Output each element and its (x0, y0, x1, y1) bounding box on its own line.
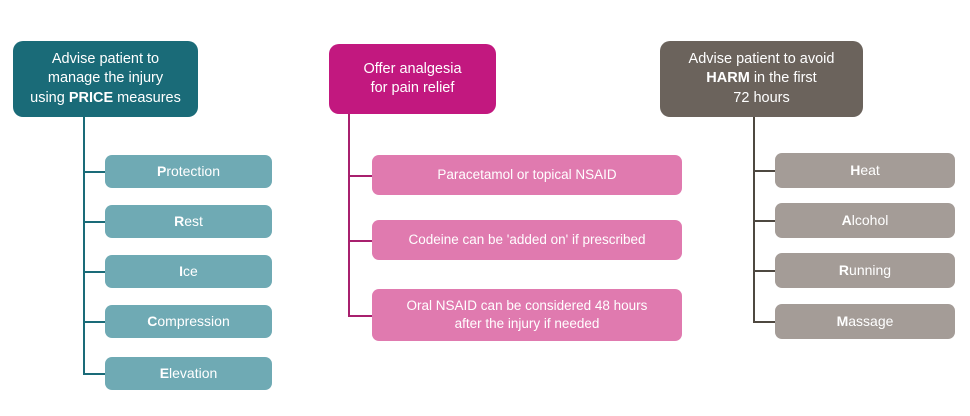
acronym-rest-r: est (184, 213, 203, 229)
child-box-protection[interactable]: Protection (105, 155, 272, 188)
acronym-rest-c: ompression (157, 313, 229, 329)
child-box-elevation-label: Elevation (113, 364, 264, 382)
child-box-elevation[interactable]: Elevation (105, 357, 272, 390)
root-price-line1: Advise patient to (52, 51, 159, 67)
root-box-analgesia-label: Offer analgesia for pain relief (339, 60, 486, 98)
child-box-compression[interactable]: Compression (105, 305, 272, 338)
connector-stub-price-3 (83, 271, 107, 273)
connector-stub-harm-3 (753, 270, 777, 272)
root-analgesia-line2: for pain relief (371, 80, 455, 96)
child-box-compression-label: Compression (113, 312, 264, 330)
root-box-analgesia[interactable]: Offer analgesia for pain relief (329, 44, 496, 114)
connector-trunk-price (83, 117, 85, 375)
acronym-initial-p: P (157, 163, 166, 179)
child-box-codeine[interactable]: Codeine can be 'added on' if prescribed (372, 220, 682, 260)
acronym-rest-i: ce (183, 263, 198, 279)
acronym-initial-r: R (174, 213, 184, 229)
child-box-protection-label: Protection (113, 162, 264, 180)
acronym-initial-h: H (850, 162, 860, 178)
acronym-rest-m: assage (848, 313, 893, 329)
root-harm-line1: Advise patient to avoid (689, 51, 835, 67)
root-box-harm-label: Advise patient to avoid HARM in the firs… (670, 50, 853, 107)
flowchart-diagram: Advise patient to manage the injury usin… (0, 0, 970, 416)
root-box-harm[interactable]: Advise patient to avoid HARM in the firs… (660, 41, 863, 117)
root-harm-line3: 72 hours (733, 90, 789, 106)
acronym-rest-a: lcohol (852, 212, 889, 228)
connector-stub-harm-1 (753, 170, 777, 172)
child-oral-nsaid-line1: Oral NSAID can be considered 48 hours (407, 298, 648, 313)
child-box-rest[interactable]: Rest (105, 205, 272, 238)
acronym-initial-e: E (160, 365, 169, 381)
connector-stub-price-1 (83, 171, 107, 173)
acronym-initial-m: M (837, 313, 849, 329)
child-box-heat-label: Heat (783, 161, 947, 179)
child-box-heat[interactable]: Heat (775, 153, 955, 188)
connector-stub-price-5 (83, 373, 107, 375)
child-box-ice[interactable]: Ice (105, 255, 272, 288)
acronym-rest-h: eat (860, 162, 879, 178)
root-analgesia-line1: Offer analgesia (363, 61, 461, 77)
connector-stub-harm-4 (753, 321, 777, 323)
acronym-rest-e: levation (169, 365, 217, 381)
child-box-rest-label: Rest (113, 212, 264, 230)
child-box-paracetamol-label: Paracetamol or topical NSAID (380, 166, 674, 184)
connector-stub-analgesia-2 (348, 240, 374, 242)
root-harm-acronym: HARM (706, 70, 750, 86)
child-box-running[interactable]: Running (775, 253, 955, 288)
root-box-price[interactable]: Advise patient to manage the injury usin… (13, 41, 198, 117)
connector-stub-price-2 (83, 221, 107, 223)
acronym-rest-r2: unning (849, 262, 891, 278)
child-box-alcohol-label: Alcohol (783, 211, 947, 229)
root-price-acronym: PRICE (69, 90, 113, 106)
acronym-initial-c: C (147, 313, 157, 329)
child-box-massage-label: Massage (783, 312, 947, 330)
root-price-line3-before: using (30, 90, 69, 106)
child-box-massage[interactable]: Massage (775, 304, 955, 339)
connector-stub-analgesia-1 (348, 175, 374, 177)
root-price-line2: manage the injury (48, 70, 163, 86)
child-box-codeine-label: Codeine can be 'added on' if prescribed (380, 231, 674, 249)
root-harm-line2-after: in the first (750, 70, 817, 86)
root-box-price-label: Advise patient to manage the injury usin… (23, 50, 188, 107)
acronym-initial-a: A (842, 212, 852, 228)
root-price-line3-after: measures (113, 90, 181, 106)
connector-stub-harm-2 (753, 220, 777, 222)
child-oral-nsaid-line2: after the injury if needed (455, 316, 600, 331)
child-box-running-label: Running (783, 261, 947, 279)
child-box-alcohol[interactable]: Alcohol (775, 203, 955, 238)
acronym-rest-p: rotection (166, 163, 220, 179)
connector-trunk-analgesia (348, 114, 350, 317)
child-box-oral-nsaid-label: Oral NSAID can be considered 48 hours af… (380, 297, 674, 332)
child-box-paracetamol[interactable]: Paracetamol or topical NSAID (372, 155, 682, 195)
connector-stub-price-4 (83, 321, 107, 323)
child-box-oral-nsaid[interactable]: Oral NSAID can be considered 48 hours af… (372, 289, 682, 341)
acronym-initial-r2: R (839, 262, 849, 278)
connector-stub-analgesia-3 (348, 315, 374, 317)
child-box-ice-label: Ice (113, 262, 264, 280)
